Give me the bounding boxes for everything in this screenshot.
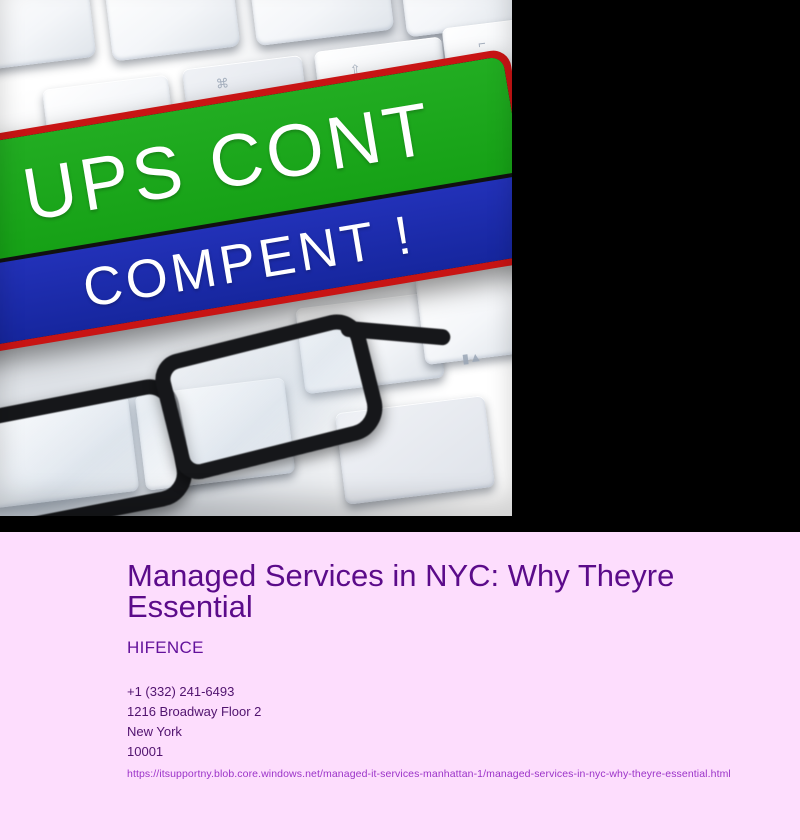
contact-phone[interactable]: +1 (332) 241-6493 xyxy=(127,682,740,702)
hero-band: ⌘ ⌦ ⇧ ⌐ ▮▲ UPS CONT COMPENT ! xyxy=(0,0,800,532)
page-title: Managed Services in NYC: Why Theyre Esse… xyxy=(127,560,727,622)
content-area: Managed Services in NYC: Why Theyre Esse… xyxy=(0,532,800,840)
contact-city: New York xyxy=(127,722,740,742)
key-glyph-icon: ▮▲ xyxy=(461,349,483,367)
brand-name: HIFENCE xyxy=(127,638,740,658)
contact-postal-code: 10001 xyxy=(127,742,740,762)
contact-street: 1216 Broadway Floor 2 xyxy=(127,702,740,722)
contact-block: +1 (332) 241-6493 1216 Broadway Floor 2 … xyxy=(127,682,740,762)
article-page: ⌘ ⌦ ⇧ ⌐ ▮▲ UPS CONT COMPENT ! xyxy=(0,0,800,840)
source-url-link[interactable]: https://itsupportny.blob.core.windows.ne… xyxy=(127,766,740,782)
hero-photo: ⌘ ⌦ ⇧ ⌐ ▮▲ UPS CONT COMPENT ! xyxy=(0,0,512,516)
key-glyph-icon: ⌘ xyxy=(215,75,230,92)
key-glyph-icon: ⌐ xyxy=(477,36,486,52)
